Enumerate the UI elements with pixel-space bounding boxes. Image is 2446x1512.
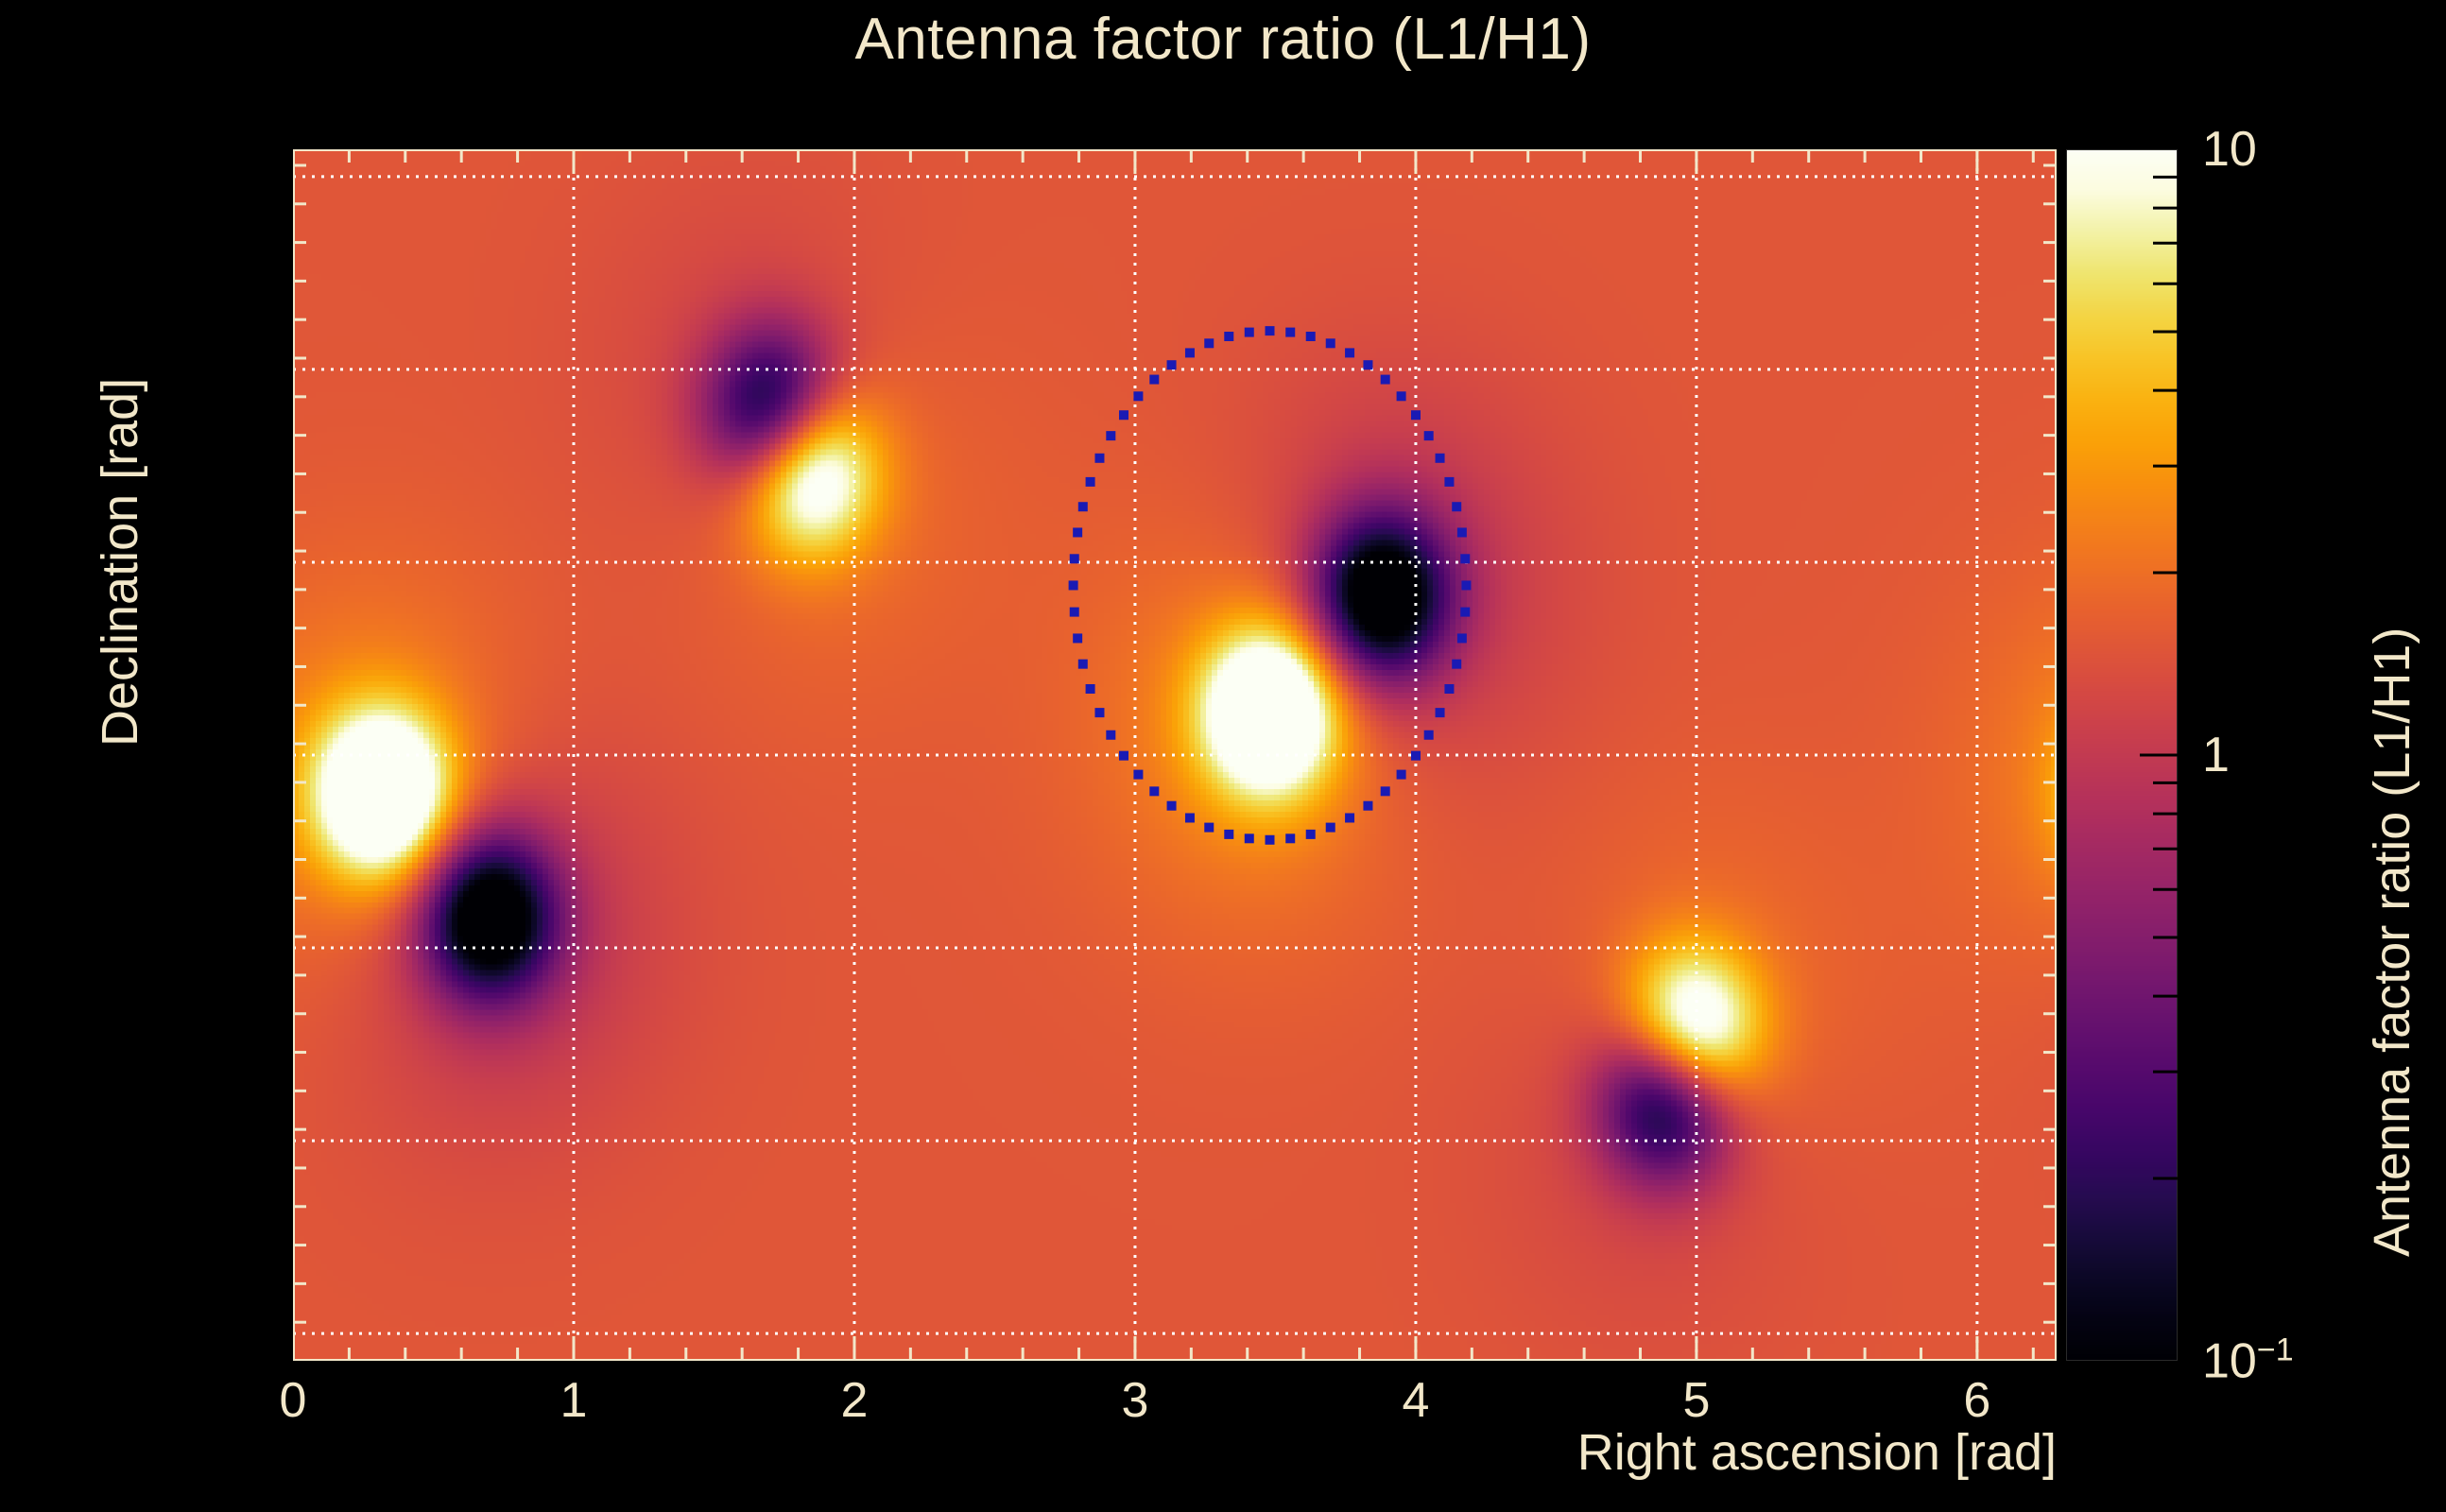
x-axis-title: Right ascension [rad] xyxy=(0,1423,2057,1482)
x-tick-label: 5 xyxy=(1682,1372,1710,1429)
x-tick-label: 1 xyxy=(560,1372,588,1429)
x-tick-label: 4 xyxy=(1402,1372,1429,1429)
x-tick-label: 6 xyxy=(1963,1372,1990,1429)
x-tick-label: 0 xyxy=(280,1372,307,1429)
colorbar-title: Antenna factor ratio (L1/H1) xyxy=(2363,627,2421,1257)
heatmap-plot-area[interactable] xyxy=(293,149,2057,1361)
colorbar-tick-label: 10−1 xyxy=(2202,1332,2294,1389)
x-tick-label: 3 xyxy=(1121,1372,1148,1429)
plot-overlay xyxy=(293,149,2057,1361)
colorbar-tick-marks xyxy=(2066,149,2178,1361)
sky-localization-contour xyxy=(1069,326,1472,845)
colorbar-tick-label: 10 xyxy=(2202,121,2257,178)
page-title: Antenna factor ratio (L1/H1) xyxy=(0,6,2446,73)
colorbar[interactable] xyxy=(2066,149,2178,1361)
colorbar-tick-label: 1 xyxy=(2202,727,2230,783)
figure-canvas: Antenna factor ratio (L1/H1) −1.5−1−0.50… xyxy=(0,0,2446,1512)
x-tick-label: 2 xyxy=(840,1372,868,1429)
y-axis-title: Declination [rad] xyxy=(91,378,149,747)
axis-tick-marks xyxy=(293,149,2057,1361)
gridlines xyxy=(293,149,2057,1361)
